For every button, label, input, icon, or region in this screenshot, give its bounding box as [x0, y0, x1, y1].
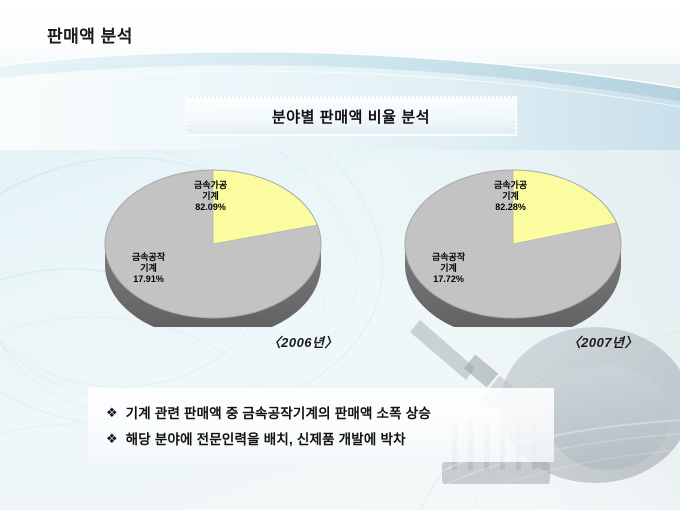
slice-name-line2: 기계 — [132, 263, 165, 274]
slice-value: 17.72% — [432, 274, 465, 285]
bullet-text-1: 기계 관련 판매액 중 금속공작기계의 판매액 소폭 상승 — [126, 402, 431, 422]
slide-canvas: 판매액 분석 분야별 판매액 비율 분석 — [0, 0, 680, 510]
diamond-bullet-icon: ❖ — [106, 432, 118, 445]
slice-name-line1: 금속가공 — [194, 180, 227, 191]
pie-2006-slice-label-yellow: 금속가공 기계 82.09% — [194, 180, 227, 213]
bullet-item-1: ❖ 기계 관련 판매액 중 금속공작기계의 판매액 소폭 상승 — [106, 402, 554, 422]
diamond-bullet-icon: ❖ — [106, 406, 118, 419]
pie-graphic-2007 — [398, 152, 628, 327]
bullet-text-2: 해당 분야에 전문인력을 배치, 신제품 개발에 박차 — [126, 428, 406, 448]
pie-2007-slice-label-yellow: 금속가공 기계 82.28% — [494, 180, 527, 213]
slice-value: 82.09% — [194, 202, 227, 213]
year-caption-2006: 〈2006년〉 — [268, 332, 338, 351]
slice-name-line1: 금속공작 — [132, 252, 165, 263]
slice-name-line1: 금속공작 — [432, 252, 465, 263]
pie-graphic-2006 — [98, 152, 328, 327]
slice-value: 17.91% — [132, 274, 165, 285]
slice-value: 82.28% — [494, 202, 527, 213]
summary-bullet-box: ❖ 기계 관련 판매액 중 금속공작기계의 판매액 소폭 상승 ❖ 해당 분야에… — [88, 388, 554, 462]
page-title: 판매액 분석 — [47, 22, 133, 47]
pie-chart-2006: 금속가공 기계 82.09% 금속공작 기계 17.91% 〈2006년〉 — [88, 152, 338, 362]
bullet-item-2: ❖ 해당 분야에 전문인력을 배치, 신제품 개발에 박차 — [106, 428, 554, 448]
slice-name-line2: 기계 — [432, 263, 465, 274]
pie-chart-2007: 금속가공 기계 82.28% 금속공작 기계 17.72% 〈2007년〉 — [388, 152, 638, 362]
year-caption-2007: 〈2007년〉 — [568, 332, 638, 351]
subtitle-banner: 분야별 판매액 비율 분석 — [185, 96, 517, 136]
subtitle-text: 분야별 판매액 비율 분석 — [272, 106, 430, 127]
charts-row: 금속가공 기계 82.09% 금속공작 기계 17.91% 〈2006년〉 — [0, 152, 680, 362]
pie-2006-slice-label-gray: 금속공작 기계 17.91% — [132, 252, 165, 285]
slice-name-line2: 기계 — [494, 191, 527, 202]
slice-name-line2: 기계 — [194, 191, 227, 202]
pie-2007-slice-label-gray: 금속공작 기계 17.72% — [432, 252, 465, 285]
slice-name-line1: 금속가공 — [494, 180, 527, 191]
